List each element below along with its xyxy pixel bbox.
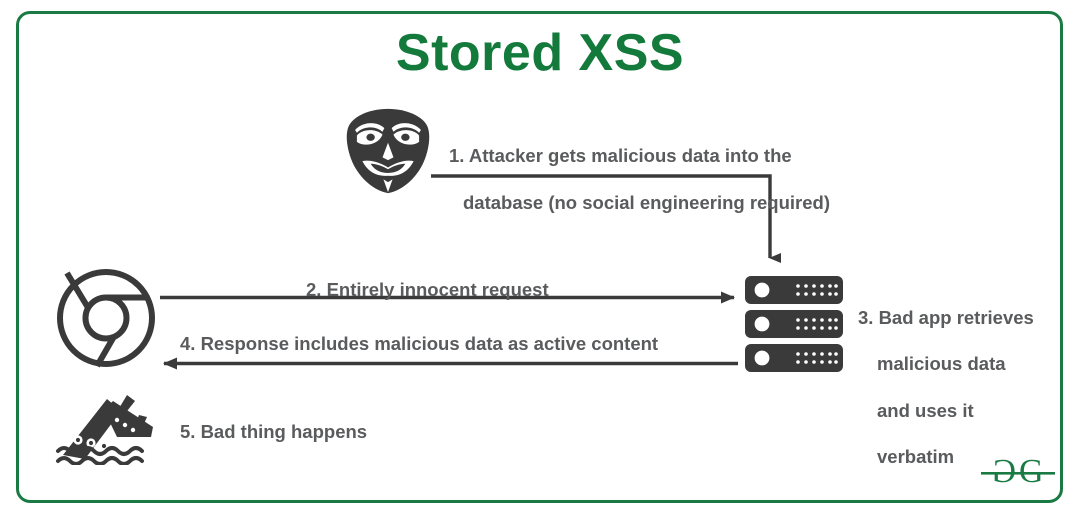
sinking-ship-icon xyxy=(55,393,160,465)
step-1-line-1: 1. Attacker gets malicious data into the xyxy=(449,145,792,166)
step-4-label: 4. Response includes malicious data as a… xyxy=(180,332,740,356)
step-3-line-4: verbatim xyxy=(858,445,1073,468)
step-3-line-1: 3. Bad app retrieves xyxy=(858,306,1073,329)
anonymous-mask-icon xyxy=(342,108,434,194)
step-3-label: 3. Bad app retrieves malicious data and … xyxy=(858,283,1073,491)
chrome-logo-icon xyxy=(56,268,156,368)
step-2-label: 2. Entirely innocent request xyxy=(306,278,606,302)
step-3-line-3: and uses it xyxy=(858,399,1073,422)
diagram-canvas: Stored XSS xyxy=(0,0,1080,516)
step-3-line-2: malicious data xyxy=(858,352,1073,375)
step-1-line-2: database (no social engineering required… xyxy=(449,191,899,215)
page-title: Stored XSS xyxy=(0,26,1080,81)
server-stack-icon xyxy=(744,275,844,373)
step-1-label: 1. Attacker gets malicious data into the… xyxy=(449,120,899,238)
step-5-label: 5. Bad thing happens xyxy=(180,420,480,444)
